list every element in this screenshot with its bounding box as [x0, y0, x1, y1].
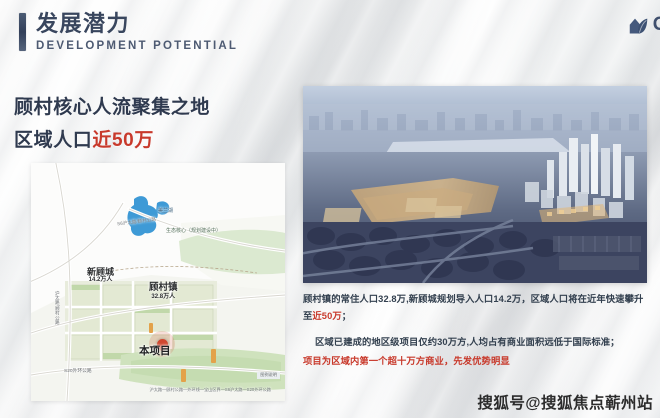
map-label-road-vertical: 沪太路/顾村公路	[55, 291, 60, 324]
map-label-eco-center: 生态核心（规划建设中）	[166, 229, 221, 235]
region-map-panel[interactable]: 美兰湖 生态核心（规划建设中） S6沪太路/顾村公路 S20外环公路 沪太路/顾…	[31, 163, 285, 401]
page-title: 发展潜力	[36, 11, 238, 36]
headline-primary: 顾村核心人流聚集之地	[14, 96, 210, 120]
map-label-new-city-population: 14.2万人	[87, 277, 114, 284]
map-label-project: 本项目	[139, 345, 171, 357]
body-paragraph-1-tail: ；	[342, 311, 351, 321]
house-leaf-logo-icon	[628, 16, 649, 35]
body-copy-block: 顾村镇的常住人口32.8万,新顾城规划导入人口14.2万，区域人口将在近年快速攀…	[303, 291, 651, 369]
brand-logo: G	[628, 14, 660, 36]
headline-secondary-prefix: 区域人口	[14, 130, 92, 151]
aerial-cityscape-photo[interactable]	[303, 86, 647, 283]
header-accent-bar	[19, 13, 26, 51]
body-paragraph-1-emphasis: 近50万	[312, 311, 341, 321]
headline-secondary-highlight: 近50万	[92, 130, 154, 151]
header-text-group: 发展潜力 DEVELOPMENT POTENTIAL	[36, 11, 238, 54]
map-label-town-population: 32.8万人	[149, 294, 178, 301]
map-label-town: 顾村镇 32.8万人	[149, 283, 178, 301]
headline-block: 顾村核心人流聚集之地 区域人口近50万	[14, 96, 210, 153]
map-label-lake: 美兰湖	[158, 209, 173, 215]
map-label-new-city: 新顾城 14.2万人	[87, 267, 114, 284]
map-legend-title: 图例说明	[257, 372, 280, 379]
headline-secondary: 区域人口近50万	[14, 129, 210, 153]
map-label-town-name: 顾村镇	[149, 282, 178, 293]
aerial-cityscape-graphic	[303, 86, 647, 283]
map-label-new-city-name: 新顾城	[87, 267, 114, 277]
map-label-road-s20: S20外环公路	[64, 369, 92, 375]
slide-background: 发展潜力 DEVELOPMENT POTENTIAL G 顾村核心人流聚集之地 …	[0, 0, 660, 418]
brand-name: G	[653, 14, 660, 36]
watermark: 搜狐号@搜狐焦点蕲州站	[477, 391, 653, 413]
body-paragraph-3: 项目为区域内第一个超十万方商业，先发优势明显	[303, 353, 651, 370]
body-paragraph-1: 顾村镇的常住人口32.8万,新顾城规划导入人口14.2万，区域人口将在近年快速攀…	[303, 291, 651, 324]
slide-header: 发展潜力 DEVELOPMENT POTENTIAL	[19, 11, 238, 54]
body-paragraph-1-text: 顾村镇的常住人口32.8万,新顾城规划导入人口14.2万，区域人口将在近年快速攀…	[303, 294, 643, 321]
map-legend-note: 沪太路—顾村公路—外环线—宝山区界—S6沪太路—S20外环公路	[150, 388, 271, 393]
page-subtitle: DEVELOPMENT POTENTIAL	[36, 38, 238, 54]
body-paragraph-2: 区域已建成的地区级项目仅约30万方,人均占有商业面积远低于国际标准；	[303, 334, 651, 351]
